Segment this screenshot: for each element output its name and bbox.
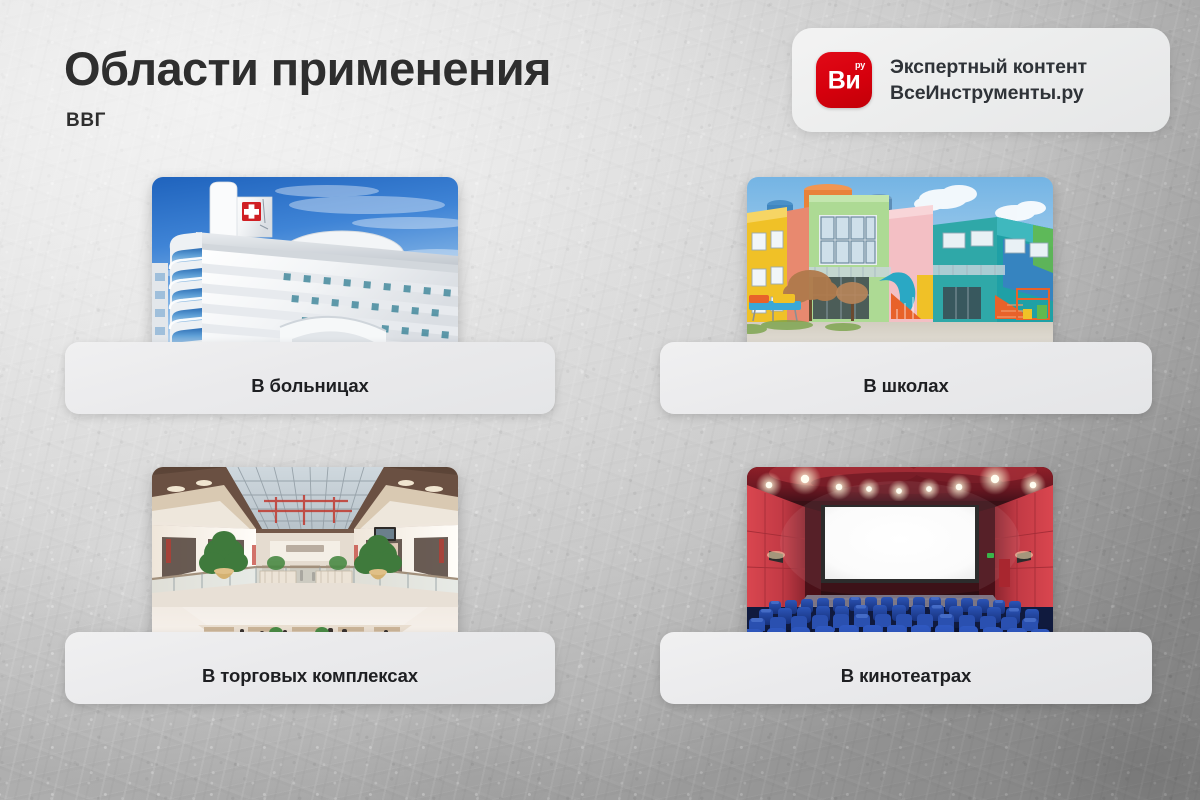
card-label-text: В кинотеатрах <box>841 665 971 687</box>
school-building-photo <box>747 177 1053 352</box>
page-subtitle: ВВГ <box>66 110 106 132</box>
card-label-text: В школах <box>863 375 948 397</box>
card-label-text: В торговых комплексах <box>202 665 418 687</box>
shopping-mall-photo <box>152 467 458 642</box>
brand-name: ВсеИнструменты.ру <box>890 82 1087 105</box>
hospital-building-photo <box>152 177 458 352</box>
logo-domain-superscript: ру <box>855 61 865 70</box>
page-title: Области применения <box>64 44 551 93</box>
cinema-hall-photo <box>747 467 1053 642</box>
card-label-school: В школах <box>660 342 1152 414</box>
brand-text-block: Экспертный контент ВсеИнструменты.ру <box>890 56 1087 105</box>
vseinstrumenty-logo-icon: Ви ру <box>816 52 872 108</box>
brand-tagline: Экспертный контент <box>890 56 1087 79</box>
logo-monogram: Ви <box>816 67 872 96</box>
card-label-cinema: В кинотеатрах <box>660 632 1152 704</box>
card-label-mall: В торговых комплексах <box>65 632 555 704</box>
card-label-text: В больницах <box>251 375 369 397</box>
brand-badge: Ви ру Экспертный контент ВсеИнструменты.… <box>792 28 1170 132</box>
card-label-hospital: В больницах <box>65 342 555 414</box>
